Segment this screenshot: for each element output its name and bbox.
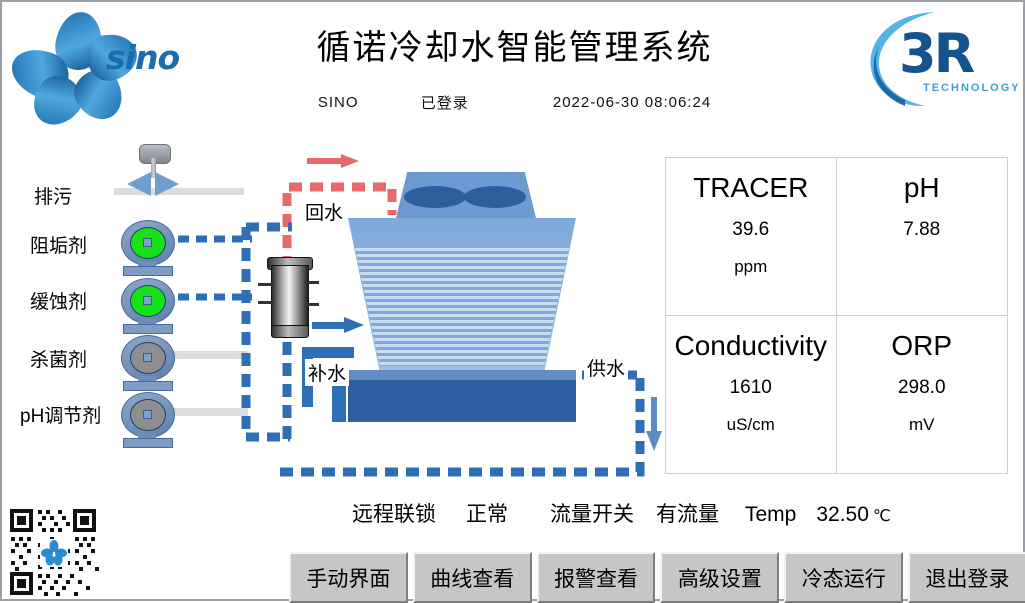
vessel-port-icon xyxy=(258,301,274,304)
arrow-shaft xyxy=(651,397,657,435)
pump-shaft-icon xyxy=(143,238,152,247)
pump-base-icon xyxy=(123,324,173,334)
pump-shaft-icon xyxy=(143,296,152,305)
label-return-water: 回水 xyxy=(302,198,346,225)
login-status: 已登录 xyxy=(421,92,469,113)
vessel-shell-icon xyxy=(271,265,309,329)
measurement-value: 7.88 xyxy=(903,219,940,241)
vessel-port-icon xyxy=(305,281,319,284)
fan-blade-icon xyxy=(464,186,526,208)
measurement-unit: ppm xyxy=(734,257,767,277)
measurement-name: TRACER xyxy=(693,170,808,205)
fan-blade-icon xyxy=(404,186,466,208)
pump-shaft-icon xyxy=(143,410,152,419)
valve-body-left-icon xyxy=(127,172,151,196)
cold-run-button[interactable]: 冷态运行 xyxy=(784,552,903,603)
vessel-port-icon xyxy=(305,303,319,306)
alarm-view-button[interactable]: 报警查看 xyxy=(537,552,656,603)
arrow-shaft xyxy=(312,322,346,329)
measurement-cell-conductivity[interactable]: Conductivity 1610 uS/cm xyxy=(666,316,837,474)
status-bar: 远程联锁 正常 流量开关 有流量 Temp 32.50 ℃ xyxy=(352,498,1022,528)
pump-base-icon xyxy=(123,381,173,391)
tower-basin xyxy=(348,380,576,422)
measurement-name: Conductivity xyxy=(674,328,827,363)
current-user: SINO xyxy=(318,94,359,111)
pump-shaft-icon xyxy=(143,353,152,362)
datetime: 2022-06-30 08:06:24 xyxy=(553,94,711,111)
temp-value: 32.50 xyxy=(816,503,869,527)
valve-body-right-icon xyxy=(155,172,179,196)
blowdown-valve-icon[interactable] xyxy=(124,144,184,192)
temp-label: Temp xyxy=(745,503,796,527)
label-biocide: 杀菌剂 xyxy=(30,345,87,372)
tower-fill-icon xyxy=(348,248,576,366)
pump-biocide[interactable] xyxy=(115,335,181,391)
arrow-head xyxy=(344,317,364,333)
label-makeup-water: 补水 xyxy=(305,359,349,386)
vessel-bottom-cap-icon xyxy=(271,325,309,338)
pump-antiscalant[interactable] xyxy=(115,220,181,276)
page-title: 循诺冷却水智能管理系统 xyxy=(2,20,1025,69)
flow-switch-label: 流量开关 xyxy=(550,498,634,528)
arrow-shaft xyxy=(307,158,343,164)
measurement-name: ORP xyxy=(891,328,952,363)
pump-base-icon xyxy=(123,438,173,448)
return-flow-arrow-icon xyxy=(307,154,359,168)
measurement-name: pH xyxy=(904,170,940,205)
header-status-row: SINO 已登录 2022-06-30 08:06:24 xyxy=(2,92,1025,113)
curve-view-button[interactable]: 曲线查看 xyxy=(413,552,532,603)
label-inhibitor: 缓蚀剂 xyxy=(30,287,87,314)
label-antiscalant: 阻垢剂 xyxy=(30,231,87,258)
flow-switch-value: 有流量 xyxy=(656,498,719,528)
measurement-cell-tracer[interactable]: TRACER 39.6 ppm xyxy=(666,158,837,316)
pump-base-icon xyxy=(123,266,173,276)
interlock-label: 远程联锁 xyxy=(352,498,436,528)
makeup-flow-arrow-icon xyxy=(312,317,364,333)
measurement-unit: uS/cm xyxy=(727,415,775,435)
cooling-tower-fan-deck xyxy=(396,172,536,218)
cooling-tower-body xyxy=(348,218,576,373)
qr-matrix-icon xyxy=(7,506,99,598)
label-ph-adjuster: pH调节剂 xyxy=(20,401,101,428)
temp-unit: ℃ xyxy=(873,506,891,526)
manual-interface-button[interactable]: 手动界面 xyxy=(289,552,408,603)
measurement-cell-orp[interactable]: ORP 298.0 mV xyxy=(837,316,1008,474)
analyzer-vessel[interactable] xyxy=(267,257,311,337)
supply-flow-arrow-icon xyxy=(646,397,662,451)
measurement-value: 39.6 xyxy=(732,219,769,241)
bottom-button-bar: 手动界面 曲线查看 报警查看 高级设置 冷态运行 退出登录 xyxy=(289,552,1025,603)
arrow-head xyxy=(341,154,359,168)
logout-button[interactable]: 退出登录 xyxy=(908,552,1025,603)
label-blowdown: 排污 xyxy=(34,182,72,209)
pump-ph-adjuster[interactable] xyxy=(115,392,181,448)
measurement-panel: TRACER 39.6 ppm pH 7.88 Conductivity 161… xyxy=(665,157,1008,474)
label-supply-water: 供水 xyxy=(584,354,628,381)
interlock-value: 正常 xyxy=(466,498,508,528)
qr-code xyxy=(7,506,99,598)
measurement-value: 1610 xyxy=(730,377,772,399)
arrow-head xyxy=(646,431,662,451)
measurement-cell-ph[interactable]: pH 7.88 xyxy=(837,158,1008,316)
vessel-port-icon xyxy=(258,283,274,286)
pump-inhibitor[interactable] xyxy=(115,278,181,334)
advanced-settings-button[interactable]: 高级设置 xyxy=(660,552,779,603)
scada-screen: sino 3R TECHNOLOGY 循诺冷却水智能管理系统 SINO 已登录 … xyxy=(0,0,1025,601)
measurement-unit: mV xyxy=(909,415,935,435)
measurement-value: 298.0 xyxy=(898,377,946,399)
